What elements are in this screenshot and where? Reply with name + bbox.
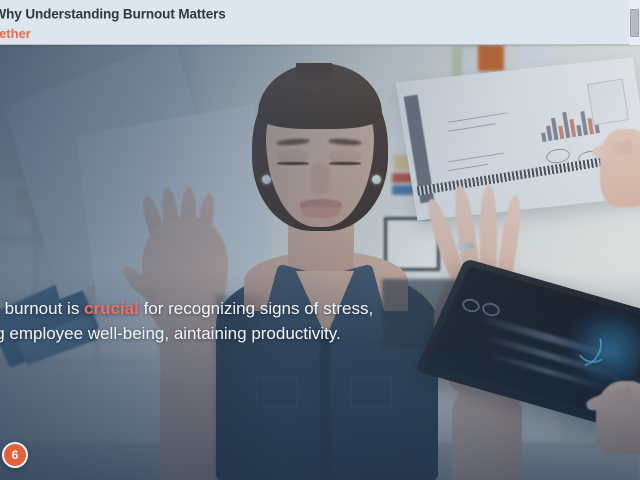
hero-text-run: rstanding burnout is (0, 299, 84, 318)
page-title: riefs® Why Understanding Burnout Matters (0, 2, 226, 24)
hero-paragraph: rstanding burnout is crucial for recogni… (0, 296, 400, 346)
hero-text-run: aintaining productivity. (174, 324, 341, 343)
page-title-label: Why Understanding Burnout Matters (0, 7, 226, 22)
header-title-block: riefs® Why Understanding Burnout Matters… (0, 2, 226, 42)
hero-slide: rstanding burnout is crucial for recogni… (0, 45, 640, 480)
page-viewport: riefs® Why Understanding Burnout Matters… (0, 0, 640, 480)
page-subtitle: All Together (0, 25, 226, 42)
vertical-scrollbar-thumb[interactable] (630, 9, 639, 37)
hero-text-run: for recognizing (139, 299, 260, 318)
slide-pagination[interactable]: 456 (0, 442, 28, 468)
page-header: riefs® Why Understanding Burnout Matters… (0, 0, 640, 45)
pagination-dot-label: 6 (12, 448, 19, 462)
slide-content: rstanding burnout is crucial for recogni… (0, 45, 640, 480)
hero-accent-word: crucial (84, 299, 139, 318)
pagination-dot-6[interactable]: 6 (2, 442, 28, 468)
